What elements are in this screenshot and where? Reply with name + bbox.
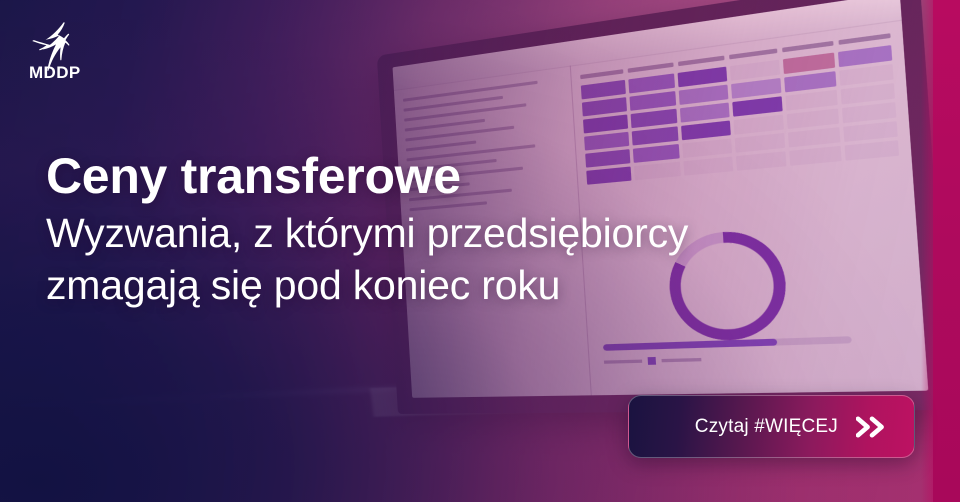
- promo-banner: MDDP Ceny transferowe Wyzwania, z którym…: [0, 0, 960, 502]
- subtitle-line-2: zmagają się pod koniec roku: [46, 260, 906, 312]
- mddp-logo[interactable]: MDDP: [18, 20, 104, 84]
- mddp-wordmark: MDDP: [29, 63, 81, 83]
- double-chevron-right-icon: [856, 416, 890, 438]
- right-accent-strip: [933, 0, 960, 502]
- read-more-button[interactable]: Czytaj #WIĘCEJ: [628, 395, 915, 458]
- page-subtitle: Wyzwania, z którymi przedsiębiorcy zmaga…: [46, 208, 906, 311]
- page-title: Ceny transferowe: [46, 150, 906, 202]
- headline-block: Ceny transferowe Wyzwania, z którymi prz…: [46, 150, 906, 311]
- read-more-label: Czytaj #WIĘCEJ: [695, 416, 838, 438]
- subtitle-line-1: Wyzwania, z którymi przedsiębiorcy: [46, 208, 906, 260]
- right-edge-glow: [921, 0, 933, 502]
